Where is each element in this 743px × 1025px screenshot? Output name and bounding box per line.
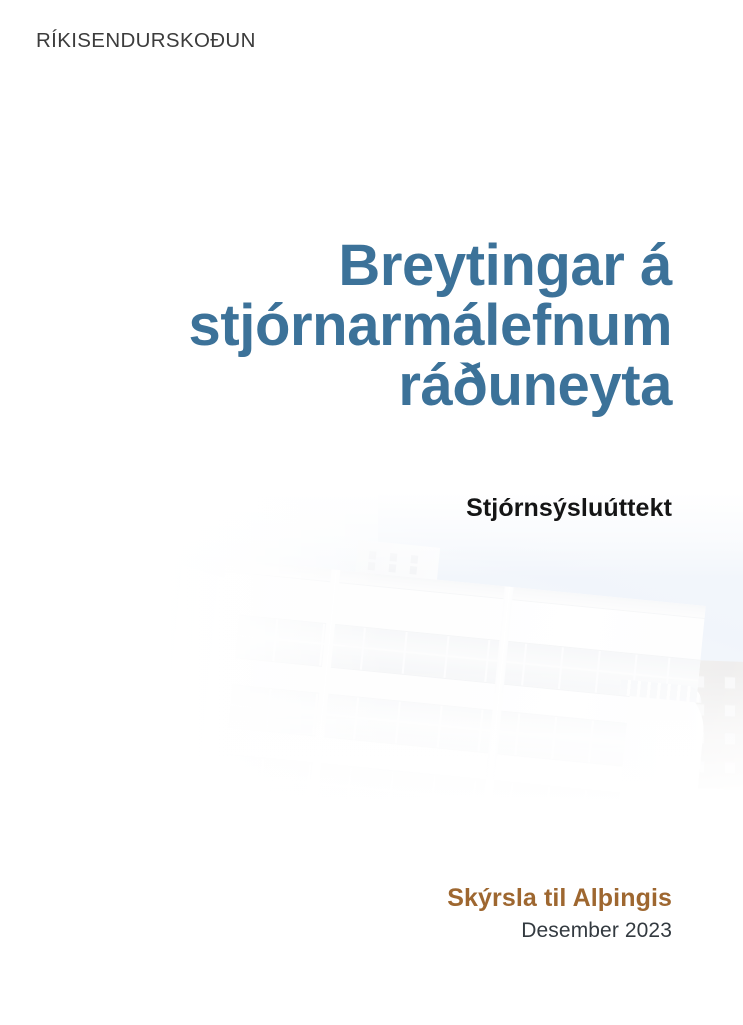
organisation-name: RÍKISENDURSKOÐUN [36,29,256,53]
cover-photo [155,492,743,828]
cover-photo-scene [155,492,743,828]
report-date: Desember 2023 [447,916,672,946]
cover-title-line-2: stjórnarmálefnum [52,296,672,356]
report-label: Skýrsla til Alþingis [447,882,672,914]
cover-title: Breytingar á stjórnarmálefnum ráðuneyta [52,236,672,416]
title-block: Breytingar á stjórnarmálefnum ráðuneyta [52,236,672,416]
cover-title-line-3: ráðuneyta [52,356,672,416]
footer-block: Skýrsla til Alþingis Desember 2023 [447,882,672,946]
cover-subtitle: Stjórnsýsluúttekt [466,494,672,523]
cover-title-line-1: Breytingar á [52,236,672,296]
document-cover-page: RÍKISENDURSKOÐUN [0,0,743,1025]
photo-fade-bottom [155,667,743,828]
